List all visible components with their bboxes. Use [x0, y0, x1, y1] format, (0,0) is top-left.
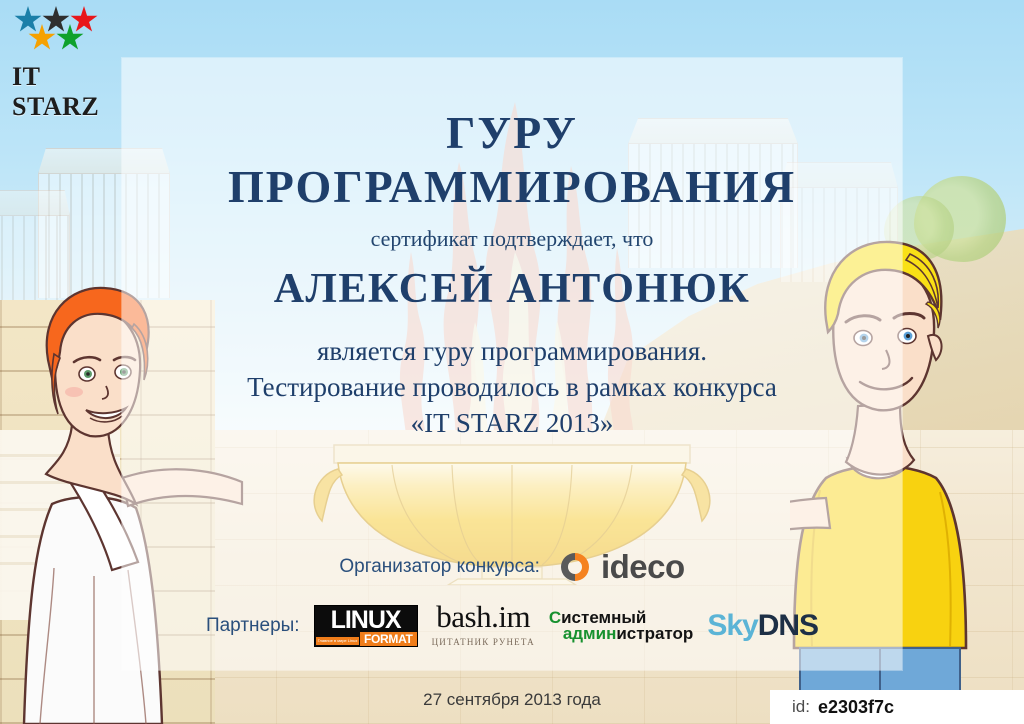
organizer-row: Организатор конкурса: ideco — [0, 548, 1024, 586]
certificate-body-line2: Тестирование проводилось в рамках конкур… — [0, 369, 1024, 405]
sysadmin-line1-green: С — [549, 608, 561, 627]
skydns-part1: Sky — [707, 609, 757, 642]
linux-format-logo: LINUX Главное в мире Linux FORMAT — [314, 605, 418, 647]
certificate-canvas: IT STARZ ГУРУ ПРОГРАММИРОВАНИЯ сертифика… — [0, 0, 1024, 724]
bash-im-tagline: ЦИТАТНИК РУНЕТА — [432, 637, 535, 647]
ideco-swirl-icon — [558, 550, 592, 584]
bash-im-logo: bash.im ЦИТАТНИК РУНЕТА — [432, 602, 535, 650]
ideco-wordmark: ideco — [601, 548, 685, 586]
recipient-name: АЛЕКСЕЙ АНТОНЮК — [0, 265, 1024, 313]
certificate-body: является гуру программирования. Тестиров… — [0, 333, 1024, 441]
certificate-id-value: e2303f7c — [818, 697, 894, 718]
certificate-id-label: id: — [792, 697, 810, 717]
partners-row: Партнеры: LINUX Главное в мире Linux FOR… — [0, 602, 1024, 650]
certificate-body-line3: «IT STARZ 2013» — [0, 405, 1024, 441]
linux-format-badge: FORMAT — [360, 632, 417, 646]
it-starz-logo: IT STARZ — [12, 6, 132, 98]
ideco-logo: ideco — [558, 548, 685, 586]
organizer-label: Организатор конкурса: — [339, 556, 540, 578]
linux-format-wordmark: LINUX — [331, 607, 401, 633]
certificate-title-line2: ПРОГРАММИРОВАНИЯ — [0, 160, 1024, 213]
star-icon-blue — [14, 6, 42, 34]
star-icon-black — [42, 6, 70, 34]
sysadmin-line2-rest: истратор — [616, 624, 693, 643]
sistemny-administrator-logo: Системный администратор — [549, 610, 694, 642]
skydns-part2: DNS — [758, 609, 818, 642]
certificate-subtitle: сертификат подтверждает, что — [0, 226, 1024, 252]
star-icon-red — [70, 6, 98, 34]
certificate-id-box: id: e2303f7c — [770, 690, 1024, 724]
sysadmin-line2-green: админ — [563, 624, 617, 643]
bash-im-wordmark: bash.im — [436, 599, 530, 634]
logo-stars — [12, 6, 116, 58]
certificate-body-line1: является гуру программирования. — [0, 333, 1024, 369]
skydns-logo: SkyDNS — [707, 611, 818, 641]
sysadmin-line2: администратор — [549, 626, 694, 642]
linux-format-tagline: Главное в мире Linux — [316, 637, 360, 645]
partners-label: Партнеры: — [206, 615, 300, 637]
certificate-title-line1: ГУРУ — [0, 108, 1024, 158]
